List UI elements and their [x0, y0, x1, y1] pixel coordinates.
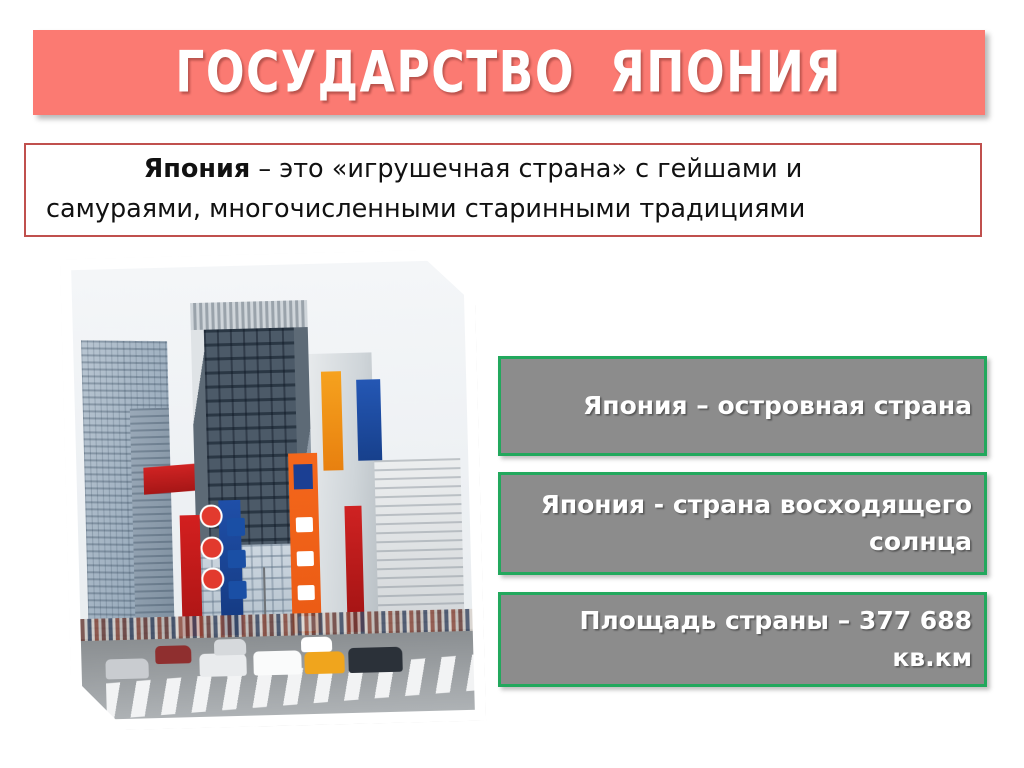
photo-sign-blue-vertical	[356, 379, 382, 461]
photo-container	[60, 250, 490, 737]
subtitle-line-1: Япония – это «игрушечная страна» с гейша…	[40, 149, 966, 189]
photo-car	[214, 638, 246, 655]
subtitle-lead-word: Япония	[144, 154, 251, 184]
fact-box-rising-sun: Япония - страна восходящего солнца	[498, 472, 987, 575]
fact-box-area: Площадь страны – 377 688 кв.км	[498, 592, 987, 687]
fact-text: Япония - страна восходящего солнца	[513, 486, 972, 560]
photo-car	[305, 651, 345, 674]
photo-sign-pill-2	[200, 536, 224, 560]
fact-box-island-country: Япония – островная страна	[498, 356, 987, 456]
subtitle-line-2: самураями, многочисленными старинными тр…	[40, 189, 966, 229]
photo-sign-yellow-vertical	[321, 371, 343, 470]
photo-frame	[60, 249, 486, 732]
photo-sign-letter-box-1	[296, 517, 313, 533]
photo-sign-letter-box-3	[298, 585, 315, 601]
photo-sign-blue-small-1	[227, 518, 245, 536]
photo-car	[254, 650, 302, 675]
photo-car	[300, 636, 332, 652]
photo-sign-letter-box-2	[297, 551, 314, 567]
slide-root: ГОСУДАРСТВО ЯПОНИЯ Япония – это «игрушеч…	[0, 0, 1024, 768]
photo-building-left-second	[130, 407, 175, 642]
subtitle-line-1-rest: – это «игрушечная страна» с гейшами и	[250, 154, 802, 184]
subtitle-box: Япония – это «игрушечная страна» с гейша…	[24, 143, 982, 237]
photo-building-center-roof	[190, 300, 308, 330]
photo-image-japan-street	[71, 260, 475, 720]
photo-car	[156, 645, 192, 664]
photo-car	[348, 647, 403, 673]
photo-sign-red-banner	[143, 464, 195, 495]
photo-sign-blue-small-2	[228, 549, 246, 567]
photo-car	[199, 653, 247, 677]
fact-text: Япония – островная страна	[583, 387, 972, 424]
page-title: ГОСУДАРСТВО ЯПОНИЯ	[176, 44, 843, 101]
photo-sign-blue-small-3	[228, 581, 246, 599]
fact-text: Площадь страны – 377 688 кв.км	[513, 602, 972, 676]
photo-car	[105, 658, 149, 679]
title-banner: ГОСУДАРСТВО ЯПОНИЯ	[33, 30, 985, 115]
